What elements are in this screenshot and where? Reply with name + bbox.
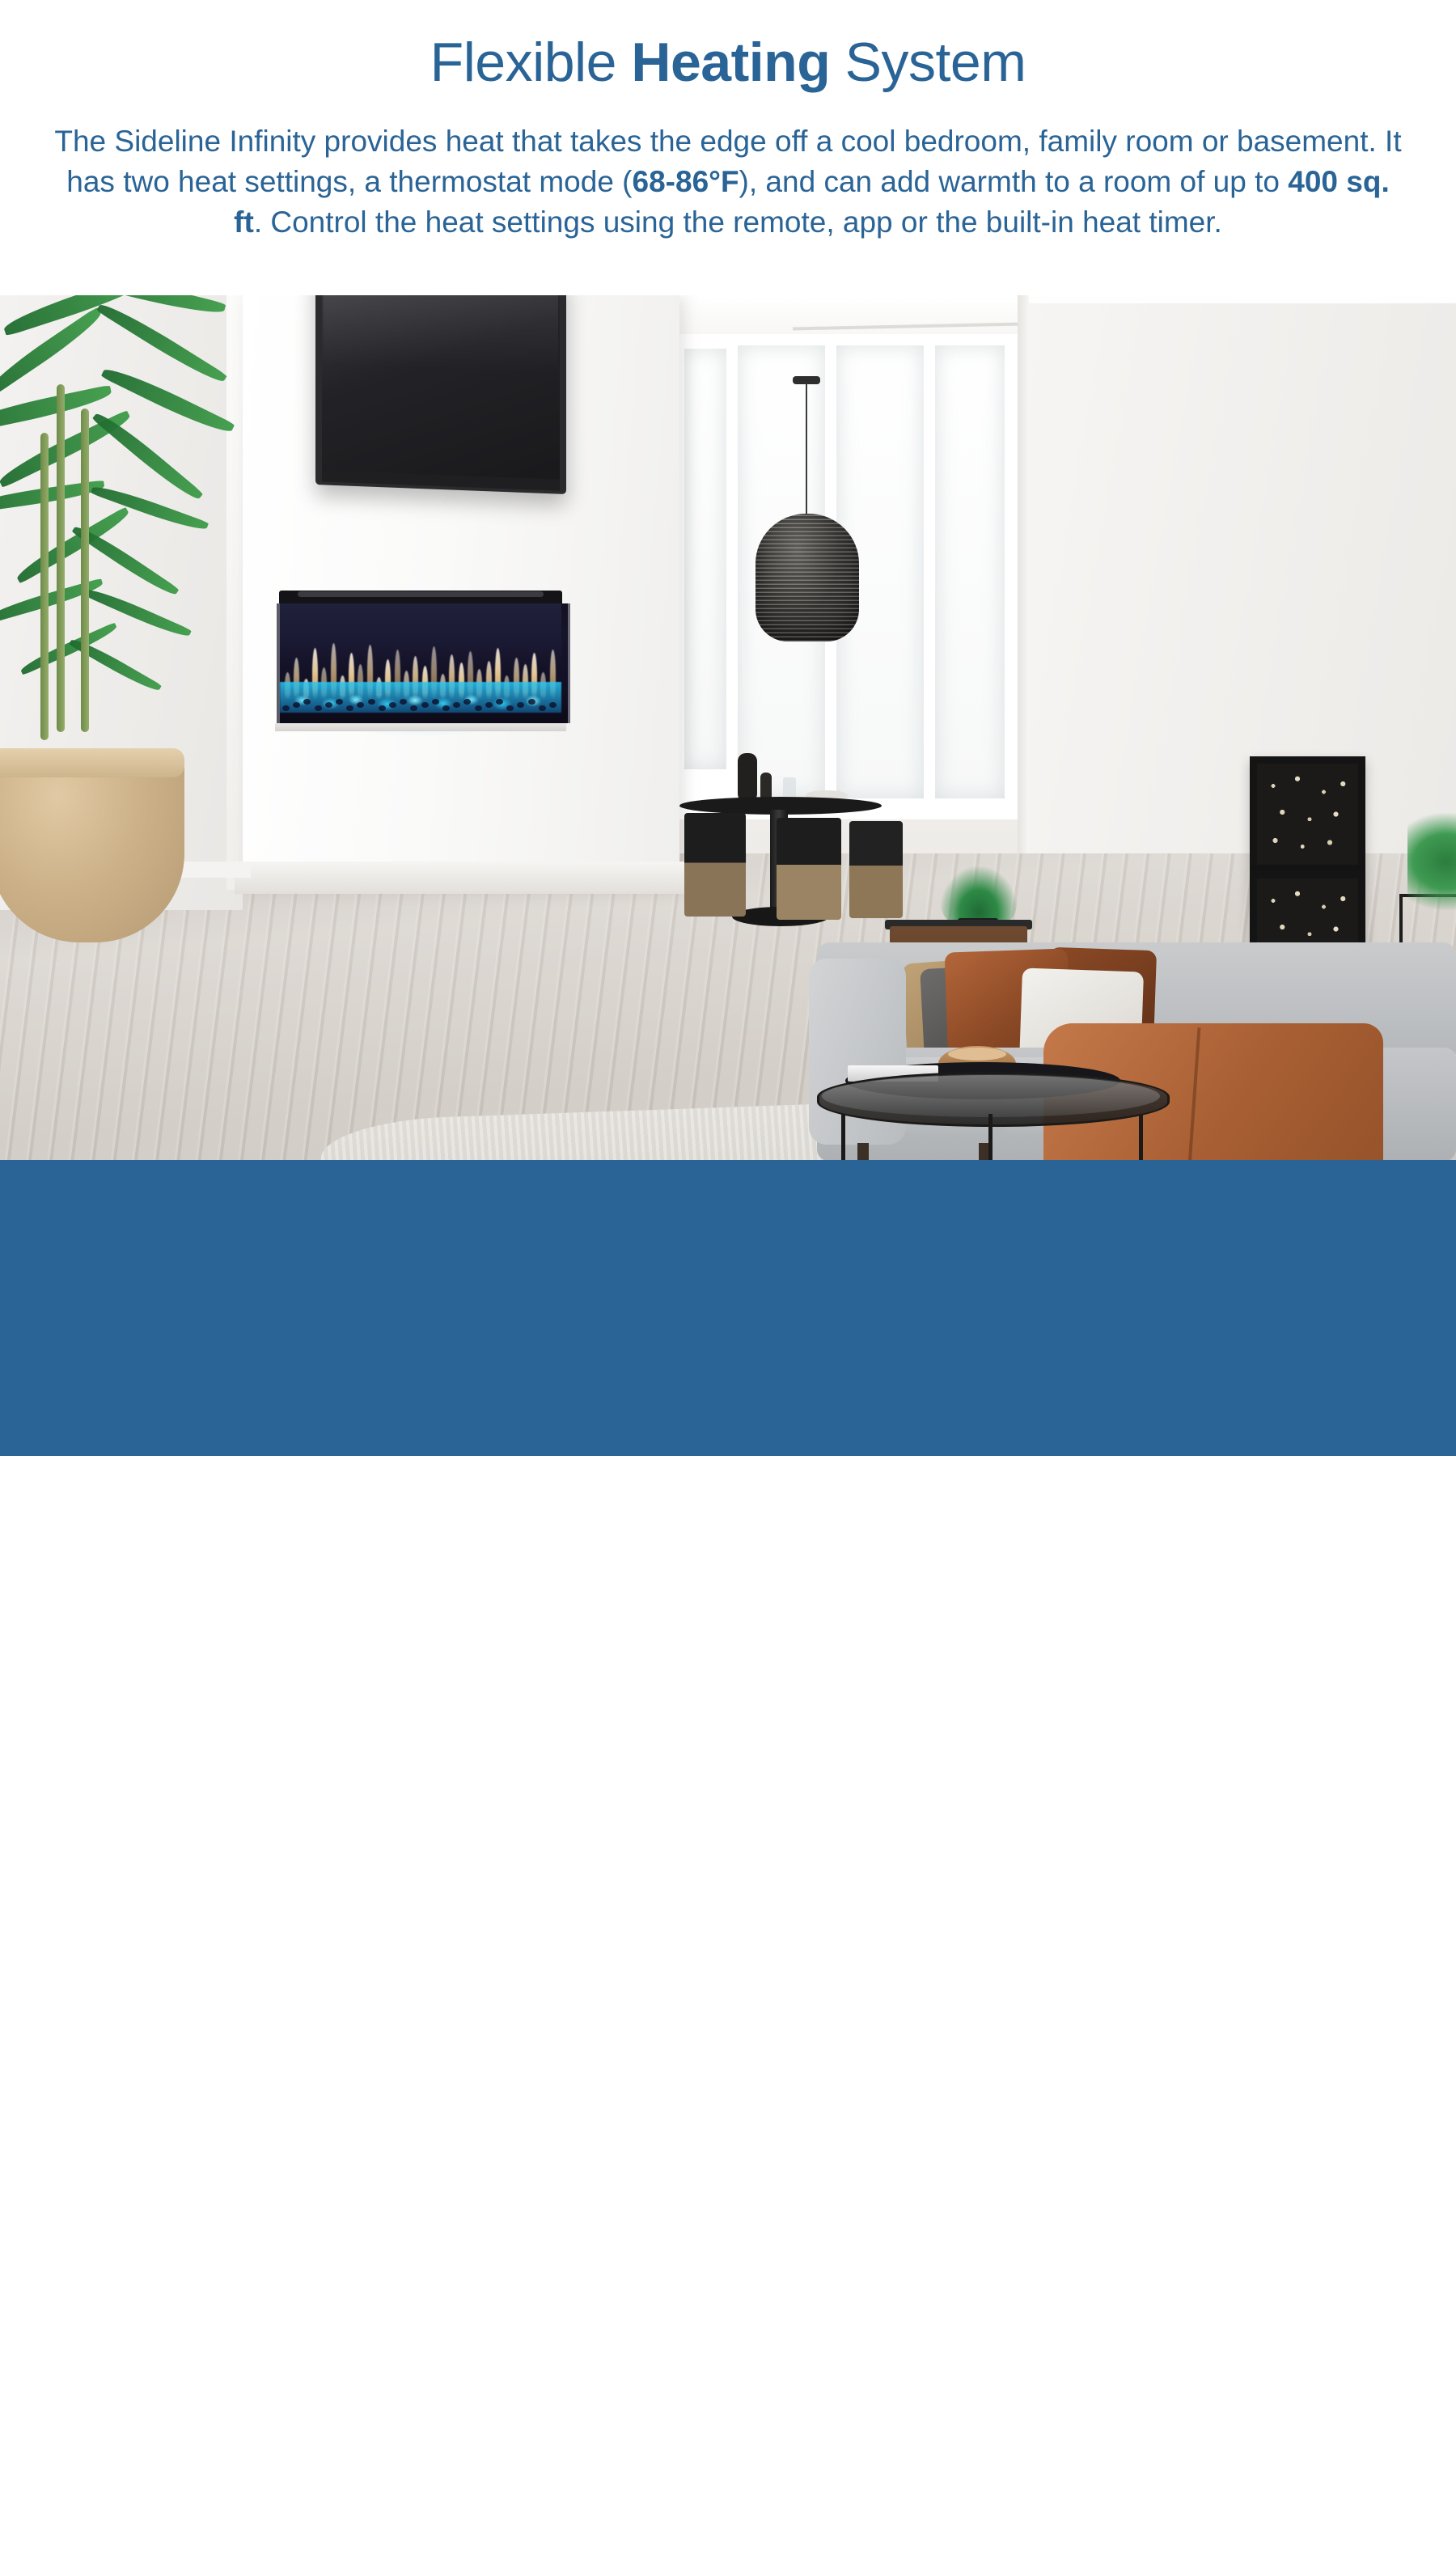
ember-stone xyxy=(442,705,450,711)
fireplace-top-bar xyxy=(298,591,544,597)
palm-frond xyxy=(13,506,133,584)
coffee-table-glass xyxy=(822,1075,1160,1117)
feature-box-list: Set a timer 1-8 hours xyxy=(49,2382,1416,2553)
palm-stalk xyxy=(57,384,65,732)
ember-stone xyxy=(379,705,386,711)
thermometer-icon xyxy=(603,2427,671,2508)
intro-paragraph: The Sideline Infinity provides heat that… xyxy=(49,121,1407,243)
page-title: Flexible Heating System xyxy=(0,31,1456,94)
title-prefix: Flexible xyxy=(430,32,632,93)
feature-box-timer[interactable]: Set a timer 1-8 hours xyxy=(49,2382,476,2553)
ember-stone xyxy=(389,702,396,708)
ember-stone xyxy=(528,699,535,705)
right-wall xyxy=(1029,303,1456,862)
title-suffix: System xyxy=(830,32,1026,93)
palm-frond xyxy=(19,622,119,675)
feature-heat-line1: Enjoy with xyxy=(1183,2418,1308,2449)
ember-stone xyxy=(336,699,343,705)
stopwatch-icon xyxy=(150,2427,218,2508)
palm-frond xyxy=(0,480,105,513)
ember-stone xyxy=(346,705,353,711)
room-photo: ts touchstone® xyxy=(0,295,1456,1160)
ember-stone xyxy=(410,705,417,711)
pendant-cord xyxy=(806,383,807,516)
ember-stones xyxy=(280,696,561,713)
chimney-base xyxy=(235,862,688,894)
feature-label-thermostat: Thermostat control option xyxy=(691,2431,861,2504)
feature-timer-line2: 1-8 hours xyxy=(246,2470,366,2501)
ember-stone xyxy=(303,699,311,705)
television-glare xyxy=(324,295,558,375)
dining-chair-3 xyxy=(849,821,903,918)
window-pane-4 xyxy=(935,345,1005,798)
ember-stone xyxy=(506,705,514,711)
ember-stone xyxy=(475,705,482,711)
ember-stone xyxy=(539,705,546,711)
ember-stone xyxy=(315,705,322,711)
window-pane-1 xyxy=(684,349,726,769)
paragraph-part-2: ), and can add warmth to a room of up to xyxy=(739,165,1289,198)
palm-plant xyxy=(0,295,291,773)
wall-corner xyxy=(1018,295,1029,853)
corner-trailing-plant xyxy=(1407,813,1456,910)
ember-stone xyxy=(463,699,471,705)
flame-icon xyxy=(1079,2427,1147,2508)
dining-vase xyxy=(738,753,757,803)
feature-box-thermostat[interactable]: Thermostat control option xyxy=(518,2382,946,2553)
feature-timer-line1: Set a timer xyxy=(238,2433,375,2465)
ember-stone xyxy=(421,702,429,708)
temperature-range: 68-86°F xyxy=(633,165,739,198)
ember-stone xyxy=(325,702,332,708)
feature-heat-line2: or without xyxy=(1186,2452,1305,2483)
pendant-weave-texture xyxy=(756,514,859,641)
dining-chair-1 xyxy=(684,813,746,917)
ember-stone xyxy=(496,699,503,705)
wooden-bowl-interior xyxy=(948,1048,1006,1061)
ember-stone xyxy=(368,699,375,705)
paragraph-part-3: . Control the heat settings using the re… xyxy=(254,205,1222,239)
planter-pot-rim xyxy=(0,748,184,777)
coffee-table-leg-1 xyxy=(841,1114,845,1160)
fireplace-hearth xyxy=(275,723,566,731)
dining-chair-2 xyxy=(777,818,841,920)
infographic-page: Flexible Heating System The Sideline Inf… xyxy=(0,0,1456,1456)
ember-stone xyxy=(400,699,407,705)
coffee-table-leg-2 xyxy=(988,1114,993,1160)
palm-stalk xyxy=(40,433,49,740)
ember-stone xyxy=(549,702,557,708)
header-section: Flexible Heating System The Sideline Inf… xyxy=(0,0,1456,295)
feature-band: Set a timer 1-8 hours xyxy=(0,1160,1456,1456)
sofa-leg-1 xyxy=(857,1143,869,1160)
feature-thermostat-line1: Thermostat xyxy=(705,2433,848,2465)
art-texture-top xyxy=(1257,764,1358,865)
ember-stone xyxy=(517,702,524,708)
framed-art-top xyxy=(1250,756,1365,872)
planter-pot xyxy=(0,748,184,942)
feature-box-heat[interactable]: Enjoy with or without heat function xyxy=(988,2382,1416,2553)
ember-stone xyxy=(357,702,364,708)
ember-stone xyxy=(432,699,439,705)
ember-stone xyxy=(485,702,493,708)
coffee-table-leg-3 xyxy=(1139,1114,1143,1160)
feature-thermostat-line2: control option xyxy=(691,2470,861,2501)
ember-stone xyxy=(453,702,460,708)
feature-label-timer: Set a timer 1-8 hours xyxy=(238,2431,375,2504)
palm-stalk xyxy=(81,409,89,732)
feature-label-heat: Enjoy with or without heat function xyxy=(1166,2416,1324,2518)
ember-stone xyxy=(293,702,300,708)
title-bold: Heating xyxy=(631,32,830,93)
feature-heat-line3: heat function xyxy=(1166,2486,1324,2517)
